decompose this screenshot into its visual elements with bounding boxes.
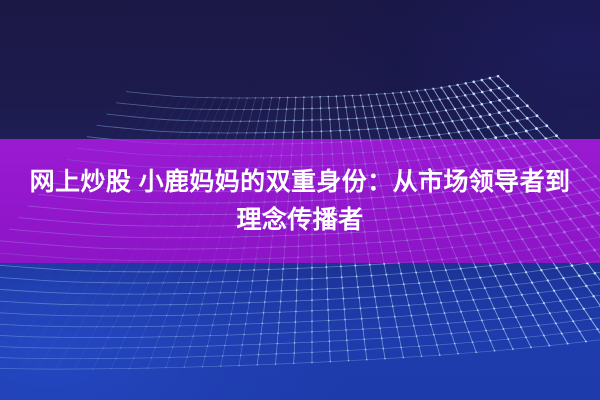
title-line-2: 理念传播者 [236,201,363,239]
title-line-1: 网上炒股 小鹿妈妈的双重身份：从市场领导者到 [30,163,571,201]
banner-image: 网上炒股 小鹿妈妈的双重身份：从市场领导者到 理念传播者 [0,0,600,400]
banner-title: 网上炒股 小鹿妈妈的双重身份：从市场领导者到 理念传播者 [0,139,600,263]
